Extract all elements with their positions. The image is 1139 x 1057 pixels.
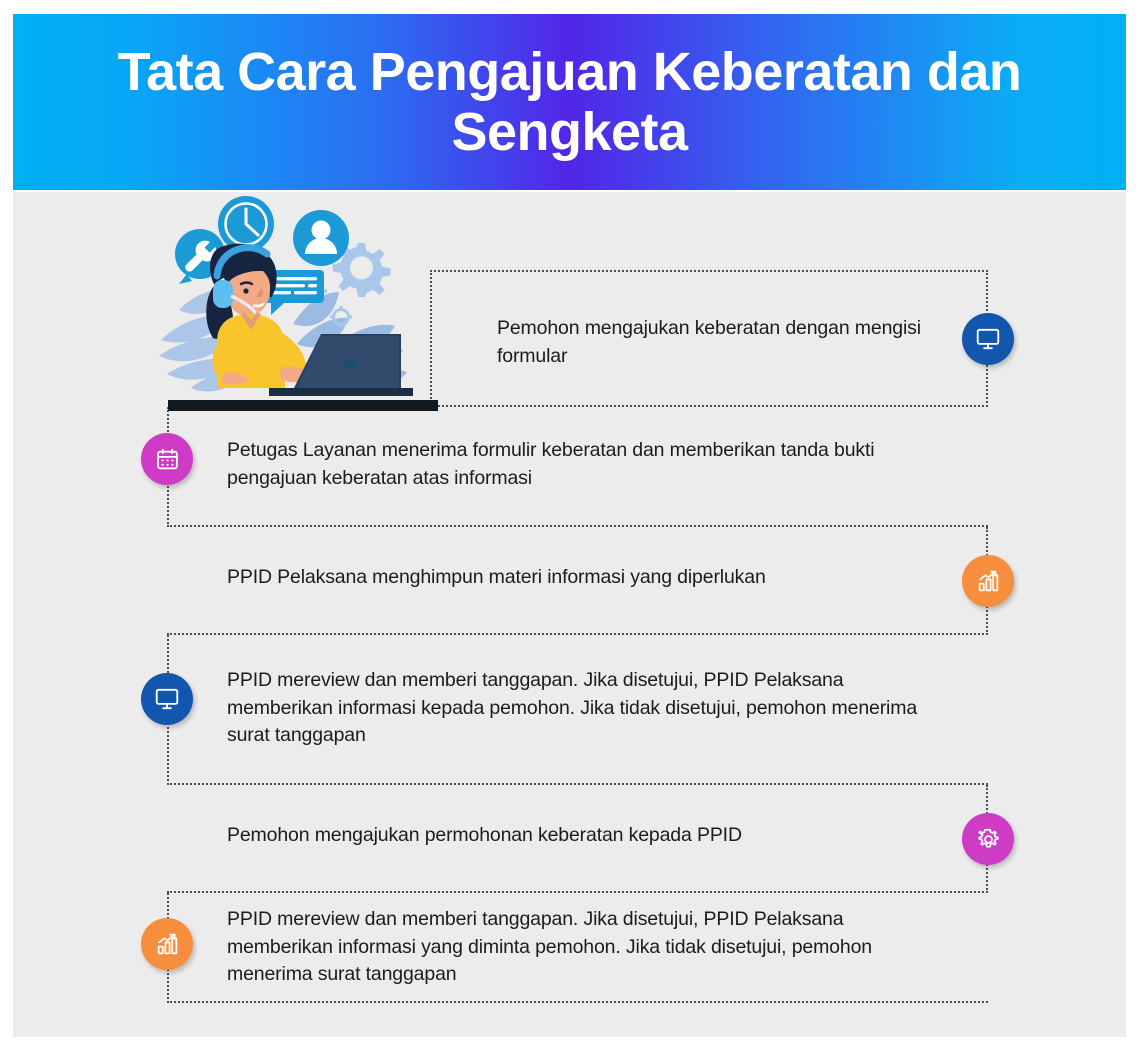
step-5-gear-icon[interactable] bbox=[962, 813, 1014, 865]
step-6-bar-chart-icon[interactable] bbox=[141, 918, 193, 970]
monitor-icon bbox=[975, 326, 1001, 352]
bar-chart-icon bbox=[976, 569, 1001, 594]
flow-step-5: Pemohon mengajukan permohonan keberatan … bbox=[167, 785, 988, 893]
user-icon bbox=[293, 210, 349, 266]
desk-bar bbox=[168, 400, 438, 411]
flow-step-1: Pemohon mengajukan keberatan dengan meng… bbox=[430, 270, 988, 407]
flow-step-4: PPID mereview dan memberi tanggapan. Jik… bbox=[167, 635, 988, 785]
step-4-text: PPID mereview dan memberi tanggapan. Jik… bbox=[227, 667, 927, 750]
step-3-text: PPID Pelaksana menghimpun materi informa… bbox=[227, 564, 927, 592]
page-title: Tata Cara Pengajuan Keberatan dan Sengke… bbox=[50, 42, 1090, 163]
calendar-icon bbox=[155, 447, 180, 472]
monitor-icon bbox=[154, 686, 180, 712]
person-figure bbox=[206, 244, 309, 388]
infographic-root: Tata Cara Pengajuan Keberatan dan Sengke… bbox=[0, 0, 1139, 1057]
flow-panel: Pemohon mengajukan keberatan dengan meng… bbox=[13, 192, 1126, 1037]
gear-icon bbox=[976, 827, 1001, 852]
step-6-text: PPID mereview dan memberi tanggapan. Jik… bbox=[227, 906, 927, 989]
step-1-monitor-icon[interactable] bbox=[962, 313, 1014, 365]
flow-step-6: PPID mereview dan memberi tanggapan. Jik… bbox=[167, 893, 988, 1003]
step-5-text: Pemohon mengajukan permohonan keberatan … bbox=[227, 822, 927, 850]
step-2-calendar-icon[interactable] bbox=[141, 433, 193, 485]
step-2-text: Petugas Layanan menerima formulir kebera… bbox=[227, 437, 917, 492]
bar-chart-icon bbox=[155, 932, 180, 957]
step-1-text: Pemohon mengajukan keberatan dengan meng… bbox=[497, 315, 927, 370]
step-3-bar-chart-icon[interactable] bbox=[962, 555, 1014, 607]
step-4-monitor-icon[interactable] bbox=[141, 673, 193, 725]
header-banner: Tata Cara Pengajuan Keberatan dan Sengke… bbox=[13, 14, 1126, 190]
flow-step-2: Petugas Layanan menerima formulir kebera… bbox=[167, 407, 988, 527]
customer-service-agent-illustration bbox=[145, 192, 445, 408]
flow-step-3: PPID Pelaksana menghimpun materi informa… bbox=[167, 527, 988, 635]
clock-icon bbox=[218, 196, 274, 252]
